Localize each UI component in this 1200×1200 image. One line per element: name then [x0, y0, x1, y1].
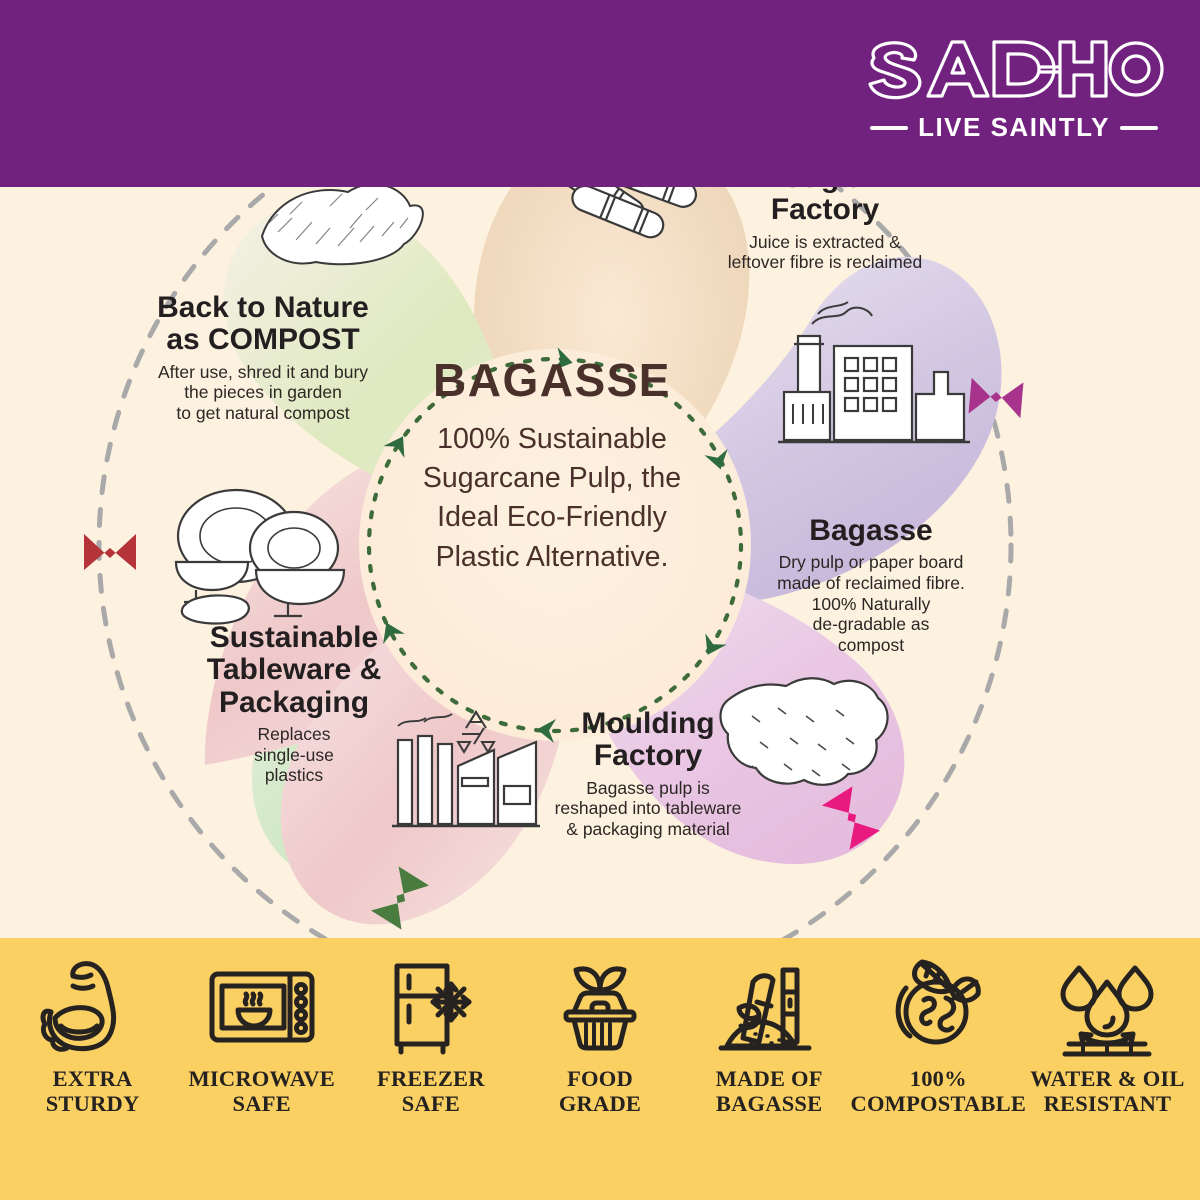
feature-microwave-safe: MICROWAVE SAFE: [177, 956, 346, 1116]
feature-water-oil-resistant: WATER & OIL RESISTANT: [1023, 956, 1192, 1116]
center-title: BAGASSE: [352, 355, 752, 406]
feature-extra-sturdy: EXTRA STURDY: [8, 956, 177, 1116]
infographic-canvas: LIVE SAINTLY SUGARCANE Annually Renewabl…: [0, 0, 1200, 1200]
feature-label: MADE OF BAGASSE: [716, 1066, 823, 1116]
node-desc-sugar-factory: Juice is extracted & leftover fibre is r…: [700, 232, 950, 273]
sadho-logo: LIVE SAINTLY: [864, 34, 1164, 154]
node-desc-bagasse: Dry pulp or paper board made of reclaime…: [748, 552, 994, 655]
feature-food-grade: FOOD GRADE: [515, 956, 684, 1116]
flexed-bicep-icon: [37, 956, 149, 1060]
cycle-node-tableware: Sustainable Tableware & Packaging Replac…: [178, 622, 410, 786]
feature-label: MICROWAVE SAFE: [189, 1066, 335, 1116]
clamshell-container-leaf-icon: [544, 956, 656, 1060]
feature-made-of-bagasse: MADE OF BAGASSE: [685, 956, 854, 1116]
feature-label: FREEZER SAFE: [377, 1066, 485, 1116]
sugarcane-soil-icon: [713, 956, 825, 1060]
feature-label: WATER & OIL RESISTANT: [1030, 1066, 1184, 1116]
cycle-node-bagasse: Bagasse Dry pulp or paper board made of …: [748, 515, 994, 656]
logo-tagline: LIVE SAINTLY: [918, 112, 1110, 142]
feature-label: FOOD GRADE: [559, 1066, 641, 1116]
feature-label: 100% COMPOSTABLE: [851, 1066, 1027, 1116]
feature-freezer-safe: FREEZER SAFE: [346, 956, 515, 1116]
microwave-icon: [206, 956, 318, 1060]
freezer-snowflake-icon: [375, 956, 487, 1060]
center-hub-text: BAGASSE 100% Sustainable Sugarcane Pulp,…: [352, 355, 752, 577]
feature-compostable: 100% COMPOSTABLE: [854, 956, 1023, 1116]
node-title-compost: Back to Nature as COMPOST: [128, 292, 398, 357]
node-desc-tableware: Replaces single-use plastics: [178, 724, 410, 786]
feature-band: EXTRA STURDY MICROWAVE SAFE: [0, 938, 1200, 1200]
node-title-tableware: Sustainable Tableware & Packaging: [178, 622, 410, 719]
water-droplets-repel-icon: [1051, 956, 1163, 1060]
node-title-bagasse: Bagasse: [748, 515, 994, 547]
center-subtitle: 100% Sustainable Sugarcane Pulp, the Ide…: [352, 420, 752, 577]
node-title-moulding-factory: Moulding Factory: [520, 708, 776, 773]
node-desc-moulding-factory: Bagasse pulp is reshaped into tableware …: [520, 778, 776, 840]
feature-label: EXTRA STURDY: [46, 1066, 140, 1116]
cycle-node-moulding-factory: Moulding Factory Bagasse pulp is reshape…: [520, 708, 776, 840]
globe-leaves-icon: [882, 956, 994, 1060]
